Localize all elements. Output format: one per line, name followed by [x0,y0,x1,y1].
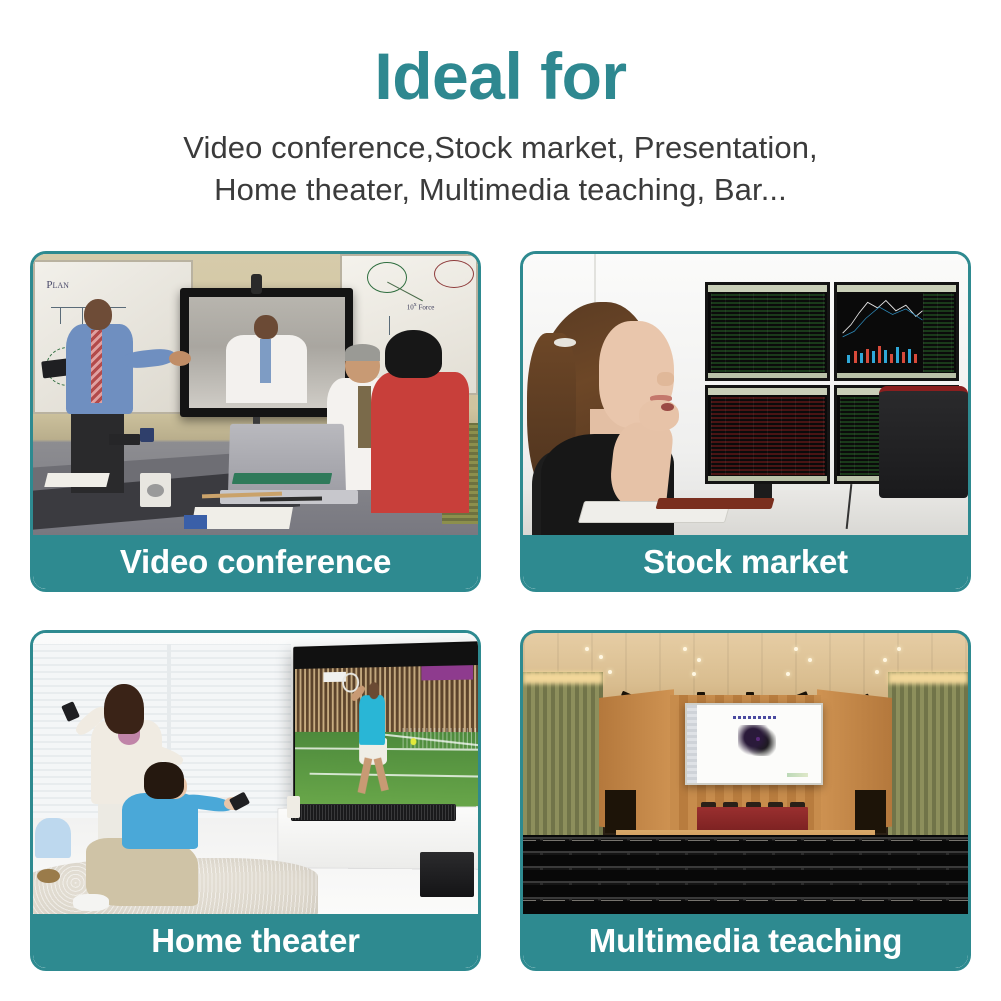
page-subtitle: Video conference,Stock market, Presentat… [0,127,1001,209]
card-caption-multimedia-teaching: Multimedia teaching [523,913,968,968]
page-header: Ideal for Video conference,Stock market,… [0,0,1001,210]
projection-screen [685,703,823,784]
subtitle-line-1: Video conference,Stock market, Presentat… [0,127,1001,168]
auditorium-seating [523,835,968,914]
soundbar [291,804,456,821]
use-case-card-stock-market[interactable]: Stock market [520,251,971,592]
home-theater-photo [33,633,478,914]
conference-camera [251,274,262,294]
video-conference-photo: PLAN 10x Force [33,254,478,535]
use-case-card-video-conference[interactable]: PLAN 10x Force [30,251,481,592]
use-case-card-multimedia-teaching[interactable]: Multimedia teaching [520,630,971,971]
ideal-for-page: Ideal for Video conference,Stock market,… [0,0,1001,1001]
subwoofer [420,852,473,897]
use-case-card-home-theater[interactable]: Home theater [30,630,481,971]
card-caption-home-theater: Home theater [33,913,478,968]
page-title: Ideal for [0,42,1001,111]
use-case-grid: PLAN 10x Force [30,251,971,971]
monitor-top-left [705,282,830,381]
multimedia-teaching-photo [523,633,968,914]
television [293,641,478,816]
card-caption-video-conference: Video conference [33,534,478,589]
monitor-top-right [834,282,959,381]
subtitle-line-2: Home theater, Multimedia teaching, Bar..… [0,169,1001,210]
office-chair [879,386,968,498]
monitor-bottom-left [705,385,830,484]
card-caption-stock-market: Stock market [523,534,968,589]
stock-market-photo [523,254,968,535]
